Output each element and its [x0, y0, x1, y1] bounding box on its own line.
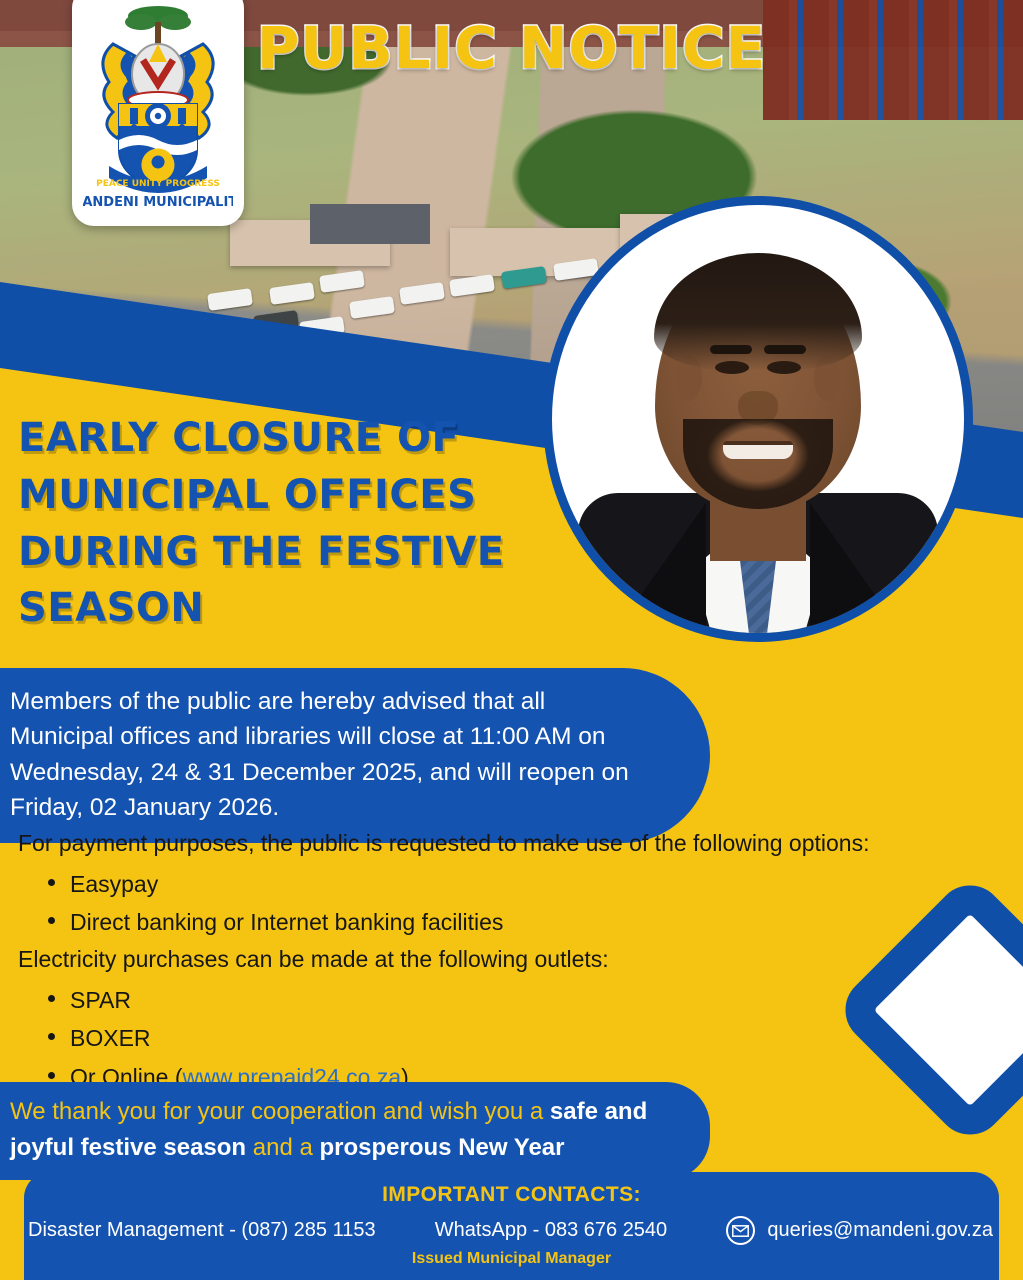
footer-title: IMPORTANT CONTACTS: [24, 1172, 999, 1207]
thanks-bold-2: prosperous New Year [320, 1134, 565, 1161]
contact-email-address[interactable]: queries@mandeni.gov.za [767, 1219, 993, 1242]
heading-line-4: SEASON [18, 580, 538, 637]
thank-you-pill: We thank you for your cooperation and wi… [0, 1082, 710, 1180]
list-item: Easypay [44, 867, 918, 902]
electricity-outlets-section: Electricity purchases can be made at the… [18, 942, 918, 1098]
official-portrait [543, 196, 973, 642]
payment-options-section: For payment purposes, the public is requ… [18, 826, 918, 944]
contact-email-group[interactable]: queries@mandeni.gov.za [726, 1216, 993, 1245]
list-item: BOXER [44, 1021, 918, 1056]
portrait-brow-left [710, 345, 752, 354]
public-notice-poster: PUBLIC NOTICE [0, 0, 1023, 1280]
notice-body-pill: Members of the public are hereby advised… [0, 668, 710, 843]
email-icon [726, 1216, 755, 1245]
heading-line-1: EARLY CLOSURE OF [18, 410, 538, 467]
logo-name: MANDENI MUNICIPALITY [83, 195, 233, 210]
footer-contact-row: Disaster Management - (087) 285 1153 Wha… [24, 1216, 999, 1245]
heading-line-2: MUNICIPAL OFFICES [18, 467, 538, 524]
issued-by-label: Issued Municipal Manager [24, 1250, 999, 1268]
portrait-eye-left [715, 361, 749, 374]
thanks-part-2: and a [246, 1134, 319, 1161]
list-item: Direct banking or Internet banking facil… [44, 905, 918, 940]
portrait-hair [654, 253, 862, 371]
contact-whatsapp: WhatsApp - 083 676 2540 [435, 1219, 667, 1242]
portrait-brow-right [764, 345, 806, 354]
logo-motto: PEACE UNITY PROGRESS [96, 179, 220, 189]
coat-of-arms-icon: PEACE UNITY PROGRESS MANDENI MUNICIPALIT… [83, 0, 233, 212]
electricity-outlets-lead: Electricity purchases can be made at the… [18, 942, 918, 977]
heading-line-3: DURING THE FESTIVE [18, 524, 538, 581]
notice-body-text: Members of the public are hereby advised… [10, 688, 629, 821]
notice-heading: EARLY CLOSURE OF MUNICIPAL OFFICES DURIN… [18, 410, 538, 637]
portrait-mouth [723, 441, 793, 459]
payment-options-list: Easypay Direct banking or Internet banki… [44, 867, 918, 940]
portrait-eye-right [767, 361, 801, 374]
footer-contacts: IMPORTANT CONTACTS: Disaster Management … [24, 1172, 999, 1280]
municipality-logo: PEACE UNITY PROGRESS MANDENI MUNICIPALIT… [72, 0, 244, 226]
list-item: SPAR [44, 983, 918, 1018]
contact-disaster-management: Disaster Management - (087) 285 1153 [28, 1219, 376, 1242]
electricity-outlets-list: SPAR BOXER Or Online (www.prepaid24.co.z… [44, 983, 918, 1095]
portrait-photo [552, 205, 964, 633]
thanks-part-1: We thank you for your cooperation and wi… [10, 1098, 550, 1125]
payment-options-lead: For payment purposes, the public is requ… [18, 826, 918, 861]
